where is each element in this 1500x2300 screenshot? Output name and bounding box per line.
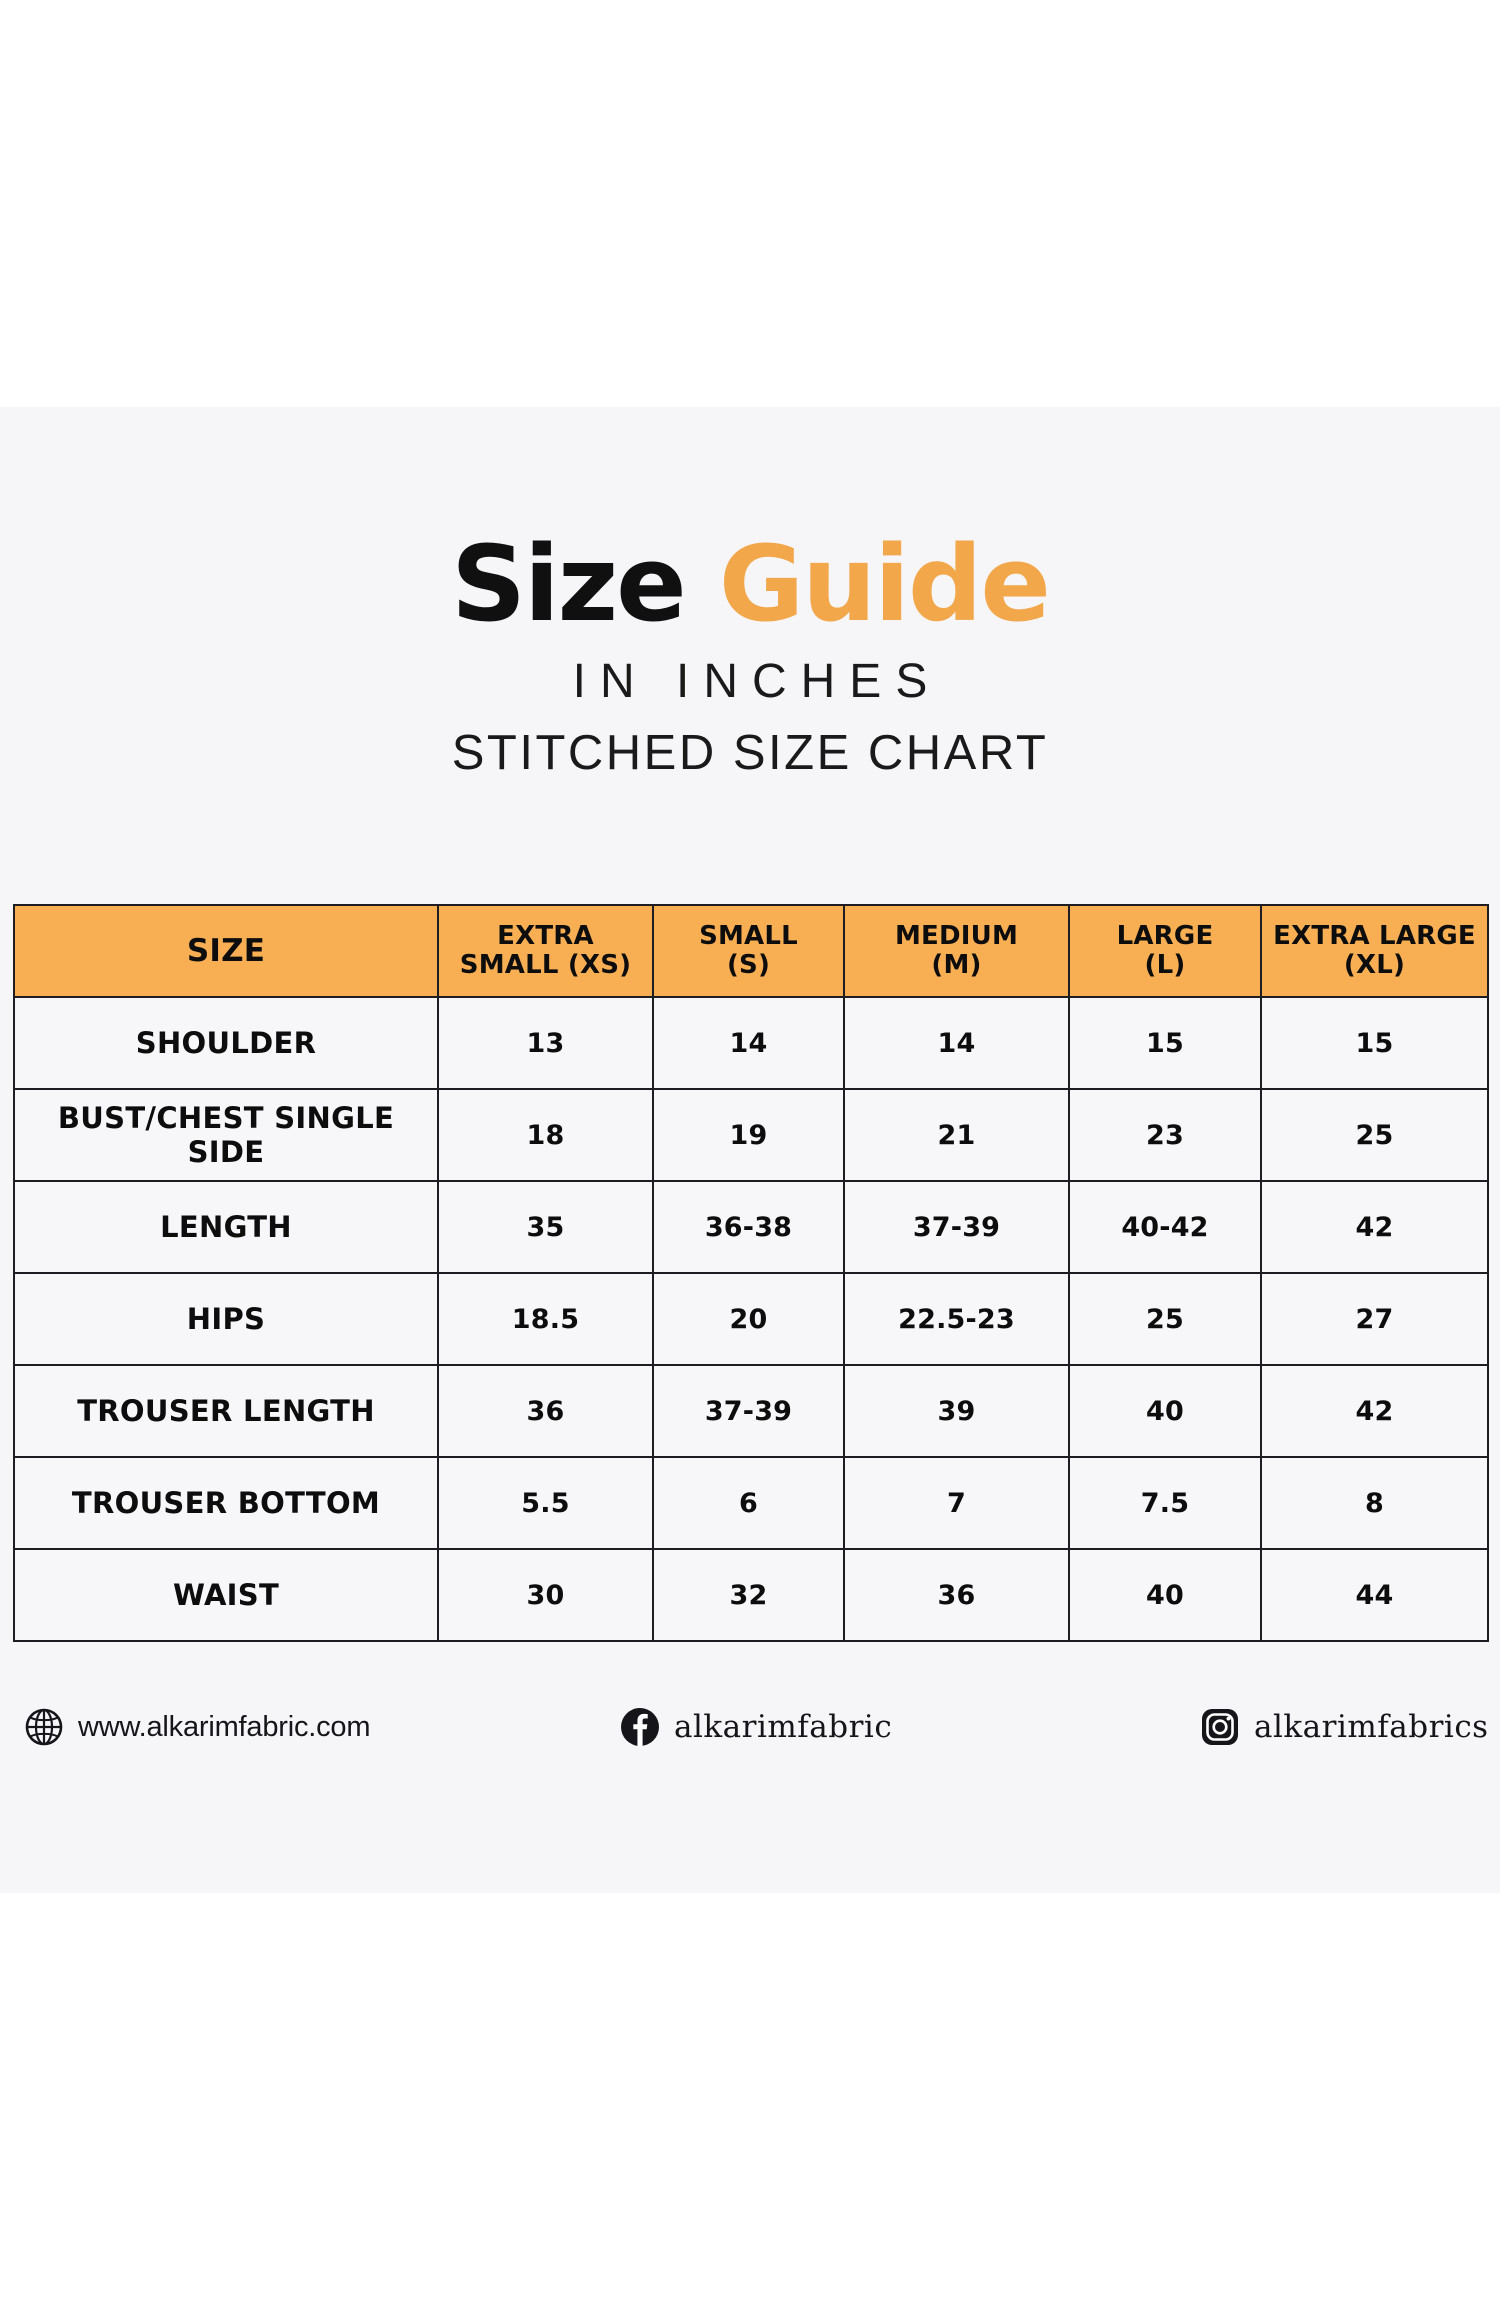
cell-value: 7.5 <box>1069 1457 1261 1549</box>
cell-value: 37-39 <box>653 1365 844 1457</box>
header-cell-size: SIZE <box>14 905 438 997</box>
cell-value: 27 <box>1261 1273 1488 1365</box>
footer-website[interactable]: www.alkarimfabric.com <box>24 1707 370 1747</box>
cell-value: 6 <box>653 1457 844 1549</box>
table-header-row: SIZE EXTRA SMALL (XS) SMALL (S) MEDIUM (… <box>14 905 1488 997</box>
footer: www.alkarimfabric.com alkarimfabric alka… <box>0 1687 1500 1767</box>
cell-value: 25 <box>1069 1273 1261 1365</box>
cell-value: 8 <box>1261 1457 1488 1549</box>
table-body: SHOULDER 13 14 14 15 15 BUST/CHEST SINGL… <box>14 997 1488 1641</box>
cell-value: 30 <box>438 1549 653 1641</box>
cell-value: 37-39 <box>844 1181 1069 1273</box>
cell-value: 18.5 <box>438 1273 653 1365</box>
cell-value: 7 <box>844 1457 1069 1549</box>
globe-icon <box>24 1707 64 1747</box>
row-label: WAIST <box>14 1549 438 1641</box>
website-label: www.alkarimfabric.com <box>78 1711 370 1744</box>
page-title: Size Guide <box>0 532 1500 636</box>
row-label: TROUSER BOTTOM <box>14 1457 438 1549</box>
header-cell-xs: EXTRA SMALL (XS) <box>438 905 653 997</box>
cell-value: 40 <box>1069 1549 1261 1641</box>
cell-value: 44 <box>1261 1549 1488 1641</box>
footer-facebook[interactable]: alkarimfabric <box>620 1707 892 1747</box>
cell-value: 13 <box>438 997 653 1089</box>
cell-value: 32 <box>653 1549 844 1641</box>
cell-value: 15 <box>1069 997 1261 1089</box>
subtitle-chart: STITCHED SIZE CHART <box>0 725 1500 781</box>
cell-value: 14 <box>653 997 844 1089</box>
cell-value: 40 <box>1069 1365 1261 1457</box>
cell-value: 35 <box>438 1181 653 1273</box>
title-word-size: Size <box>451 523 685 645</box>
cell-value: 19 <box>653 1089 844 1181</box>
size-table-wrapper: SIZE EXTRA SMALL (XS) SMALL (S) MEDIUM (… <box>13 904 1487 1642</box>
table-row: SHOULDER 13 14 14 15 15 <box>14 997 1488 1089</box>
cell-value: 40-42 <box>1069 1181 1261 1273</box>
title-word-guide: Guide <box>719 523 1049 645</box>
cell-value: 23 <box>1069 1089 1261 1181</box>
title-block: Size Guide IN INCHES STITCHED SIZE CHART <box>0 407 1500 781</box>
header-cell-s: SMALL (S) <box>653 905 844 997</box>
row-label: HIPS <box>14 1273 438 1365</box>
cell-value: 21 <box>844 1089 1069 1181</box>
size-guide-card: Size Guide IN INCHES STITCHED SIZE CHART… <box>0 407 1500 1893</box>
cell-value: 36 <box>438 1365 653 1457</box>
cell-value: 36-38 <box>653 1181 844 1273</box>
cell-value: 18 <box>438 1089 653 1181</box>
cell-value: 5.5 <box>438 1457 653 1549</box>
row-label: BUST/CHEST SINGLE SIDE <box>14 1089 438 1181</box>
cell-value: 15 <box>1261 997 1488 1089</box>
cell-value: 42 <box>1261 1365 1488 1457</box>
cell-value: 14 <box>844 997 1069 1089</box>
footer-instagram[interactable]: alkarimfabrics <box>1200 1707 1489 1747</box>
table-header: SIZE EXTRA SMALL (XS) SMALL (S) MEDIUM (… <box>14 905 1488 997</box>
instagram-label: alkarimfabrics <box>1254 1709 1489 1745</box>
size-table: SIZE EXTRA SMALL (XS) SMALL (S) MEDIUM (… <box>13 904 1489 1642</box>
facebook-icon <box>620 1707 660 1747</box>
instagram-icon <box>1200 1707 1240 1747</box>
table-row: WAIST 30 32 36 40 44 <box>14 1549 1488 1641</box>
cell-value: 36 <box>844 1549 1069 1641</box>
table-row: TROUSER LENGTH 36 37-39 39 40 42 <box>14 1365 1488 1457</box>
header-cell-xl: EXTRA LARGE (XL) <box>1261 905 1488 997</box>
table-row: BUST/CHEST SINGLE SIDE 18 19 21 23 25 <box>14 1089 1488 1181</box>
cell-value: 39 <box>844 1365 1069 1457</box>
cell-value: 22.5-23 <box>844 1273 1069 1365</box>
table-row: LENGTH 35 36-38 37-39 40-42 42 <box>14 1181 1488 1273</box>
table-row: HIPS 18.5 20 22.5-23 25 27 <box>14 1273 1488 1365</box>
cell-value: 42 <box>1261 1181 1488 1273</box>
row-label: TROUSER LENGTH <box>14 1365 438 1457</box>
cell-value: 20 <box>653 1273 844 1365</box>
header-cell-m: MEDIUM (M) <box>844 905 1069 997</box>
subtitle-units: IN INCHES <box>0 654 1500 709</box>
row-label: LENGTH <box>14 1181 438 1273</box>
header-cell-l: LARGE (L) <box>1069 905 1261 997</box>
row-label: SHOULDER <box>14 997 438 1089</box>
facebook-label: alkarimfabric <box>674 1709 892 1745</box>
cell-value: 25 <box>1261 1089 1488 1181</box>
table-row: TROUSER BOTTOM 5.5 6 7 7.5 8 <box>14 1457 1488 1549</box>
